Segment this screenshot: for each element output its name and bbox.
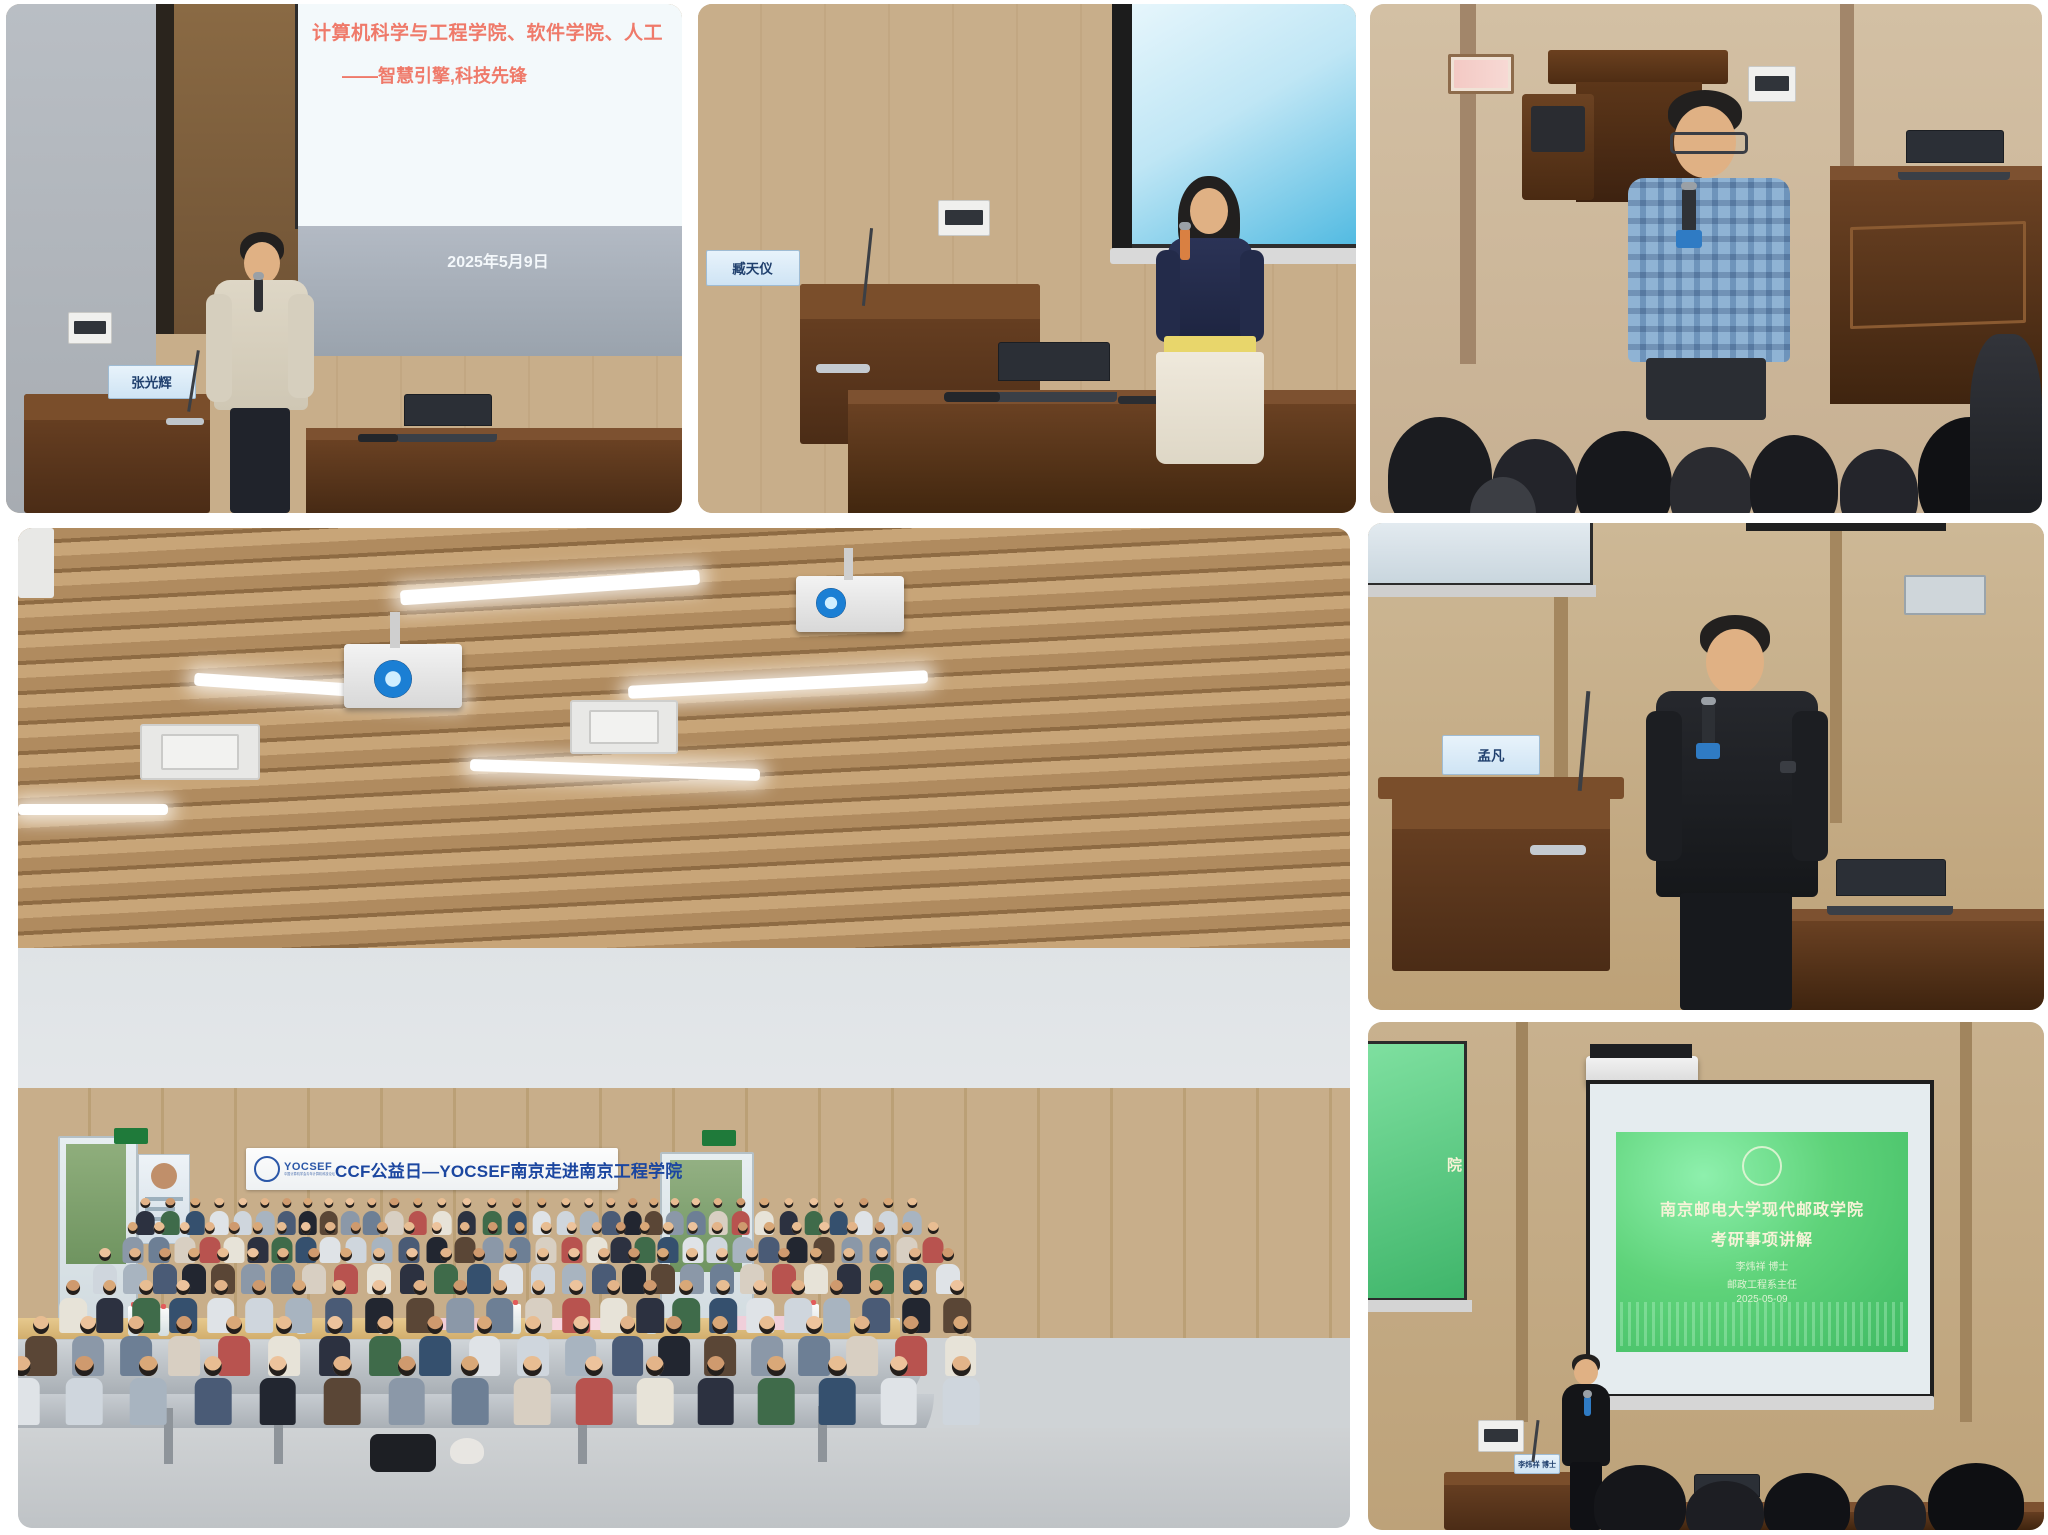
wooden-chair [1522, 94, 1594, 200]
audience-head [332, 1280, 346, 1295]
audience-head [80, 1316, 96, 1334]
audience-head [649, 1198, 658, 1208]
nameplate-text: 张光辉 [132, 373, 173, 392]
slide-presenter: 李炜祥 博士 [1616, 1258, 1908, 1273]
audience-head [686, 1248, 698, 1261]
audience-head [691, 1198, 700, 1208]
audience-head [541, 1222, 552, 1234]
audience-head [176, 1280, 190, 1295]
laptop [404, 394, 490, 442]
audience-head [204, 1356, 222, 1376]
wall-control-panel [68, 312, 112, 344]
nameplate-text: 孟凡 [1477, 746, 1504, 765]
audience-head [909, 1280, 923, 1295]
audience-head [282, 1198, 291, 1208]
smartwatch [1780, 761, 1796, 773]
floor [18, 1428, 1350, 1528]
audience-head [713, 1198, 722, 1208]
audience-head [99, 1248, 111, 1261]
audience-head [406, 1248, 418, 1261]
projector-mount-2 [844, 548, 853, 580]
foreground-person-right [1970, 334, 2042, 513]
ceiling-projector-right [796, 576, 904, 632]
audience-member [195, 1356, 232, 1425]
audience-head [712, 1316, 728, 1334]
audience-head [646, 1356, 664, 1376]
audience-head [876, 1248, 888, 1261]
audience-head [791, 1280, 805, 1295]
audience-head [473, 1248, 485, 1261]
projection-screen: 计算机科学与工程学院、软件学院、人工 ——智慧引擎,科技先锋 [298, 4, 682, 226]
audience-body [66, 1378, 103, 1424]
handheld-microphone [254, 278, 263, 312]
audience-head [413, 1280, 427, 1295]
audience-head [847, 1222, 858, 1234]
university-emblem-icon [1742, 1146, 1782, 1186]
audience-head [950, 1280, 964, 1295]
audience-head [736, 1198, 745, 1208]
audience-head [462, 1198, 471, 1208]
desk-microphone-base [944, 392, 1000, 402]
audience-head [942, 1248, 954, 1261]
speaker-plaid-shirt [1628, 178, 1790, 362]
audience-head [670, 1198, 679, 1208]
audience-head [707, 1356, 725, 1376]
audience-head [592, 1222, 603, 1234]
audience-head [292, 1280, 306, 1295]
audience-head [639, 1222, 650, 1234]
audience-head [584, 1198, 593, 1208]
screen-roller [1586, 1396, 1934, 1410]
audience-head [784, 1198, 793, 1208]
slide-presenter-title: 邮政工程系主任 [1616, 1276, 1908, 1291]
ceiling-projector-main [344, 644, 462, 708]
audience-body [637, 1378, 674, 1424]
photo-speaker-male-left[interactable]: 计算机科学与工程学院、软件学院、人工 ——智慧引擎,科技先锋 2025年5月9日… [6, 4, 682, 513]
audience-head [247, 1248, 259, 1261]
audience-head [810, 1248, 822, 1261]
audience-head [226, 1316, 242, 1334]
audience-head [191, 1198, 200, 1208]
handheld-microphone [1702, 703, 1715, 745]
audience-head [537, 1198, 546, 1208]
audience-body [388, 1378, 425, 1424]
handheld-microphone [1180, 228, 1190, 260]
audience-head [413, 1198, 422, 1208]
audience-head [952, 1356, 970, 1376]
audience-head [767, 1356, 785, 1376]
audience-head [440, 1248, 452, 1261]
podium-desktop [1378, 777, 1624, 799]
podium-indicator-lights [816, 364, 870, 373]
audience-head [166, 1198, 175, 1208]
backpack-on-floor [370, 1434, 436, 1472]
slide-title-line2: ——智慧引擎,科技先锋 [342, 62, 682, 88]
audience-head [493, 1280, 507, 1295]
audience-head [512, 1198, 521, 1208]
audience-head [66, 1280, 80, 1295]
audience-head [680, 1280, 694, 1295]
photo-postgraduate-briefing[interactable]: 院 南京邮电大学现代邮政学院 考研事项讲解 李炜祥 博士 邮政工程系主任 202… [1368, 1022, 2044, 1530]
audience-body [943, 1378, 980, 1424]
audience-head [103, 1280, 117, 1295]
audience-member [388, 1356, 425, 1425]
laptop-base [1827, 906, 1952, 915]
exit-sign-left [114, 1128, 148, 1144]
audience-head [217, 1248, 229, 1261]
podium-indicator-lights [166, 418, 204, 425]
audience-head [33, 1316, 49, 1334]
audience-head [260, 1198, 269, 1208]
slide-title-line1: 计算机科学与工程学院、软件学院、人工 [312, 18, 682, 45]
audience-body [18, 1378, 40, 1424]
audience-head [628, 1198, 637, 1208]
audience-head [859, 1198, 868, 1208]
audience-head [712, 1222, 723, 1234]
audience-head [759, 1316, 775, 1334]
audience-head [537, 1248, 549, 1261]
ceiling-speaker [18, 528, 54, 598]
audience-head [903, 1316, 919, 1334]
wall-vent [1904, 575, 1986, 615]
audience-head [573, 1316, 589, 1334]
audience-head [616, 1222, 627, 1234]
audience-head [252, 1280, 266, 1295]
laptop-lid [404, 394, 492, 426]
laptop [1906, 130, 2002, 180]
audience-head [764, 1222, 775, 1234]
audience-head [568, 1248, 580, 1261]
laptop-lid [998, 342, 1110, 381]
projection-screen: 南京邮电大学现代邮政学院 考研事项讲解 李炜祥 博士 邮政工程系主任 2025-… [1590, 1084, 1930, 1394]
audience-body [881, 1378, 918, 1424]
slide-title-line1: 南京邮电大学现代邮政学院 [1616, 1196, 1908, 1220]
audience-head [404, 1222, 415, 1234]
audience-head [373, 1248, 385, 1261]
audience-heads [1368, 1440, 2044, 1530]
audience-head [437, 1198, 446, 1208]
table-front-panel [1850, 221, 2026, 329]
wall-edge-trim [156, 4, 174, 334]
speaker-right-arm [1240, 250, 1264, 342]
audience-head [129, 1248, 141, 1261]
audience-head [778, 1248, 790, 1261]
bag-on-floor [450, 1438, 484, 1464]
laptop [1836, 859, 1944, 915]
podium-top [800, 284, 1040, 319]
photo-speaker-female[interactable]: 臧天仪 [698, 4, 1356, 513]
podium-nameplate: 张光辉 [108, 365, 196, 399]
front-table [848, 396, 1356, 513]
audience-head [269, 1356, 287, 1376]
audience-head [819, 1222, 830, 1234]
audience-head [325, 1222, 336, 1234]
photo-collage: 计算机科学与工程学院、软件学院、人工 ——智慧引擎,科技先锋 2025年5月9日… [0, 0, 2048, 1535]
audience-member [881, 1356, 918, 1425]
audience-head [523, 1356, 541, 1376]
speaker-left-arm [206, 294, 232, 402]
slide-title-line2: 考研事项讲解 [1616, 1226, 1908, 1250]
audience-head [324, 1198, 333, 1208]
audience-head [598, 1248, 610, 1261]
laptop-lid [1906, 130, 2004, 163]
podium-indicator-lights [1530, 845, 1586, 855]
eyeglasses [1670, 132, 1748, 154]
audience-head [854, 1316, 870, 1334]
speaker-trousers [1680, 893, 1792, 1010]
audience-head [607, 1198, 616, 1208]
audience-member [819, 1356, 856, 1425]
podium [24, 394, 210, 513]
microphone-band [1696, 743, 1720, 759]
projector-mount-1 [390, 612, 400, 648]
ceiling-light-tube-5 [18, 804, 168, 815]
audience-head [75, 1356, 93, 1376]
audience-member [758, 1356, 795, 1425]
second-projection-screen: 院 [1368, 1044, 1464, 1298]
audience-head [738, 1222, 749, 1234]
audience-head [890, 1356, 908, 1376]
audience-member [452, 1356, 489, 1425]
audience-head [884, 1198, 893, 1208]
laptop-base [989, 392, 1117, 402]
audience-head [141, 1198, 150, 1208]
handheld-microphone [1584, 1396, 1591, 1416]
audience-head [525, 1316, 541, 1334]
audience-head [806, 1316, 822, 1334]
audience-member [943, 1356, 980, 1425]
screen-frame-top-right [1746, 523, 1946, 531]
audience-head [229, 1222, 240, 1234]
audience-heads [1370, 353, 2042, 513]
air-conditioner-vent-left [140, 724, 260, 780]
speaker-right-arm [288, 294, 314, 398]
audience-head [663, 1222, 674, 1234]
audience-head [909, 1248, 921, 1261]
audience-head [620, 1316, 636, 1334]
audience-body [130, 1378, 167, 1424]
audience-member [697, 1356, 734, 1425]
photo-lecture-hall-group[interactable]: YOCSEF 中国计算机学会青年计算机科技论坛 CCF公益日—YOCSEF南京走… [18, 528, 1350, 1528]
audience-head [215, 1198, 224, 1208]
audience-head [908, 1198, 917, 1208]
handheld-microphone [1682, 188, 1696, 232]
audience-head [188, 1248, 200, 1261]
laptop-lid [1836, 859, 1946, 896]
audience-head [333, 1356, 351, 1376]
audience-head [460, 1222, 471, 1234]
audience-head [303, 1198, 312, 1208]
audience-head [351, 1222, 362, 1234]
desk-microphone-base [358, 434, 398, 442]
wall-control-panel [938, 200, 990, 236]
audience-head [716, 1280, 730, 1295]
wall-sign [1448, 54, 1514, 94]
audience-head [276, 1316, 292, 1334]
podium-nameplate: 臧天仪 [706, 250, 800, 286]
audience-head [18, 1356, 30, 1376]
speaker-head [1574, 1359, 1598, 1385]
audience-body [195, 1378, 232, 1424]
audience-head [345, 1198, 354, 1208]
slide-surface: 南京邮电大学现代邮政学院 考研事项讲解 李炜祥 博士 邮政工程系主任 2025-… [1616, 1132, 1908, 1352]
audience-head [453, 1280, 467, 1295]
audience-head [214, 1280, 228, 1295]
audience-head [327, 1316, 343, 1334]
audience-member [18, 1356, 40, 1425]
audience-body [452, 1378, 489, 1424]
audience-head [830, 1280, 844, 1295]
audience-head [828, 1356, 846, 1376]
audience-body [324, 1378, 361, 1424]
screen-roller [1368, 585, 1596, 597]
photo-speaker-plaid-shirt[interactable] [1370, 4, 2042, 513]
audience-head [432, 1222, 443, 1234]
speaker-left-arm [1646, 711, 1682, 861]
air-conditioner-vent-right [570, 700, 678, 754]
black-jacket-speaker [1644, 615, 1832, 1010]
audience-head [377, 1222, 388, 1234]
audience-head [561, 1198, 570, 1208]
audience-head [791, 1222, 802, 1234]
slide-skyline-graphic [1620, 1302, 1904, 1346]
audience-head [746, 1248, 758, 1261]
audience-head [461, 1356, 479, 1376]
speaker-head [1706, 629, 1764, 695]
banner-logo-subtext: 中国计算机学会青年计算机科技论坛 [284, 1173, 335, 1176]
audience-head [657, 1248, 669, 1261]
audience-head [277, 1248, 289, 1261]
audience-head [427, 1316, 443, 1334]
audience-head [607, 1280, 621, 1295]
audience-head [238, 1198, 247, 1208]
wall-seam-1 [1516, 1022, 1528, 1422]
audience-member [324, 1356, 361, 1425]
screen-frame-left [1112, 4, 1132, 256]
audience-head [128, 1316, 144, 1334]
audience-head [390, 1198, 399, 1208]
audience-head [687, 1222, 698, 1234]
audience-head [953, 1316, 969, 1334]
projector-lens [816, 588, 846, 618]
speaker-skirt [1156, 352, 1264, 464]
podium [1392, 789, 1610, 971]
audience-head [569, 1280, 583, 1295]
audience-head [154, 1222, 165, 1234]
audience-body [259, 1378, 296, 1424]
audience-head [377, 1316, 393, 1334]
exit-sign-right [702, 1130, 736, 1146]
audience-head [532, 1280, 546, 1295]
audience-head [753, 1280, 767, 1295]
audience-head [487, 1198, 496, 1208]
audience-head [177, 1316, 193, 1334]
projection-screen [1368, 523, 1590, 583]
audience-head [869, 1280, 883, 1295]
laptop [998, 342, 1108, 402]
audience-head [505, 1248, 517, 1261]
audience-head [340, 1248, 352, 1261]
speaker-trousers [230, 408, 290, 513]
audience-head [585, 1356, 603, 1376]
audience-body [697, 1378, 734, 1424]
audience-body [758, 1378, 795, 1424]
audience-head [487, 1222, 498, 1234]
audience-head [372, 1280, 386, 1295]
audience-head [139, 1280, 153, 1295]
audience-member [66, 1356, 103, 1425]
audience-head [628, 1248, 640, 1261]
speaker-head [1190, 188, 1228, 234]
audience-head [205, 1222, 216, 1234]
audience-head [308, 1248, 320, 1261]
ccf-seal-icon [254, 1156, 280, 1182]
second-screen-roller [1368, 1300, 1472, 1312]
audience-head [127, 1222, 138, 1234]
audience-head [159, 1248, 171, 1261]
audience-member [576, 1356, 613, 1425]
audience-head [834, 1198, 843, 1208]
speaker-right-arm [1792, 711, 1828, 861]
speaker-left-arm [1156, 250, 1180, 342]
banner-logo: YOCSEF 中国计算机学会青年计算机科技论坛 [246, 1156, 335, 1182]
audience-member [637, 1356, 674, 1425]
laptop-base [397, 434, 497, 442]
audience-head [276, 1222, 287, 1234]
female-speaker [1146, 176, 1276, 466]
audience-head [809, 1198, 818, 1208]
lectern-top [1548, 50, 1728, 84]
event-banner: YOCSEF 中国计算机学会青年计算机科技论坛 CCF公益日—YOCSEF南京走… [246, 1148, 618, 1190]
microphone-band [1676, 230, 1702, 248]
audience-head [928, 1222, 939, 1234]
audience-body [514, 1378, 551, 1424]
audience-member [130, 1356, 167, 1425]
audience-member [259, 1356, 296, 1425]
wall-seam-2 [1960, 1022, 1972, 1422]
audience-head [643, 1280, 657, 1295]
male-speaker [202, 232, 320, 513]
audience-head [666, 1316, 682, 1334]
audience-head [180, 1222, 191, 1234]
photo-speaker-black-jacket[interactable]: 孟凡 [1368, 523, 2044, 1010]
podium-nameplate: 孟凡 [1442, 735, 1540, 775]
slide-date: 2025年5月9日 [298, 248, 682, 272]
audience-head [477, 1316, 493, 1334]
audience-head [397, 1356, 415, 1376]
audience-head [843, 1248, 855, 1261]
audience-member [514, 1356, 551, 1425]
audience-head [875, 1222, 886, 1234]
audience-body [819, 1378, 856, 1424]
audience-head [567, 1222, 578, 1234]
front-table [306, 434, 682, 513]
projector-bracket [1590, 1044, 1692, 1058]
audience-head [253, 1222, 264, 1234]
audience-head [716, 1248, 728, 1261]
banner-text: CCF公益日—YOCSEF南京走进南京工程学院 [335, 1157, 682, 1182]
audience-head [902, 1222, 913, 1234]
audience-head [300, 1222, 311, 1234]
laptop-base [1898, 172, 2009, 180]
nameplate-text: 臧天仪 [733, 259, 774, 278]
ceiling-projector [1586, 1056, 1698, 1086]
audience-body [576, 1378, 613, 1424]
audience-head [367, 1198, 376, 1208]
screen-lower-dark-slide: 2025年5月9日 [298, 226, 682, 356]
audience-head [139, 1356, 157, 1376]
audience-head [515, 1222, 526, 1234]
